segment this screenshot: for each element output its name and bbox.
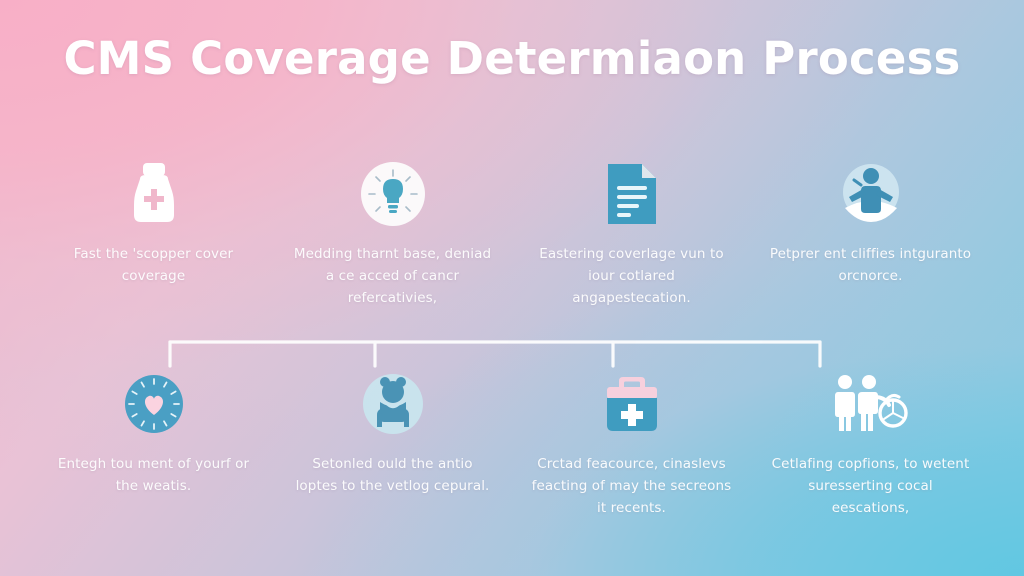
icon-container: [837, 158, 905, 230]
clock-heart-icon: [123, 373, 185, 435]
process-node-caption: Fast the 'scopper cover coverage: [51, 244, 256, 288]
icon-container: [123, 368, 185, 440]
page-title: CMS Coverage Determiaon Process: [0, 32, 1024, 85]
process-node-caption: Petprer ent cliffies intguranto orcnorce…: [768, 244, 973, 288]
icon-container: [829, 368, 913, 440]
process-node-8[interactable]: Cetlafing copfions, to wetent suresserti…: [751, 368, 990, 520]
process-node-2[interactable]: Medding tharnt base, deniad a ce acced o…: [273, 158, 512, 310]
icon-container: [359, 158, 427, 230]
icon-container: [361, 368, 425, 440]
process-node-3[interactable]: Eastering coverlage vun to iour cotlared…: [512, 158, 751, 310]
process-node-caption: Medding tharnt base, deniad a ce acced o…: [290, 244, 495, 310]
icon-container: [604, 158, 660, 230]
people-bicycle-icon: [829, 373, 913, 435]
process-node-caption: Entegh tou ment of yourf or the weatis.: [51, 454, 256, 498]
document-file-icon: [604, 160, 660, 228]
process-node-caption: Cetlafing copfions, to wetent suresserti…: [768, 454, 973, 520]
process-node-5[interactable]: Entegh tou ment of yourf or the weatis.: [34, 368, 273, 498]
seated-person-icon: [361, 372, 425, 436]
process-node-1[interactable]: Fast the 'scopper cover coverage: [34, 158, 273, 288]
infographic-canvas: CMS Coverage Determiaon Process Fast the…: [0, 0, 1024, 576]
process-row-top: Fast the 'scopper cover coverage: [34, 158, 990, 310]
icon-container: [122, 158, 186, 230]
process-node-6[interactable]: Setonled ould the antio loptes to the ve…: [273, 368, 512, 498]
process-node-caption: Crctad feacource, cinaslevs feacting of …: [529, 454, 734, 520]
first-aid-kit-icon: [602, 373, 662, 435]
process-node-caption: Eastering coverlage vun to iour cotlared…: [529, 244, 734, 310]
medicine-bottle-icon: [122, 161, 186, 227]
icon-container: [602, 368, 662, 440]
process-row-bottom: Entegh tou ment of yourf or the weatis. …: [34, 368, 990, 520]
process-node-7[interactable]: Crctad feacource, cinaslevs feacting of …: [512, 368, 751, 520]
process-node-caption: Setonled ould the antio loptes to the ve…: [290, 454, 495, 498]
process-node-4[interactable]: Petprer ent cliffies intguranto orcnorce…: [751, 158, 990, 288]
lightbulb-idea-icon: [359, 160, 427, 228]
person-figure-icon: [837, 160, 905, 228]
